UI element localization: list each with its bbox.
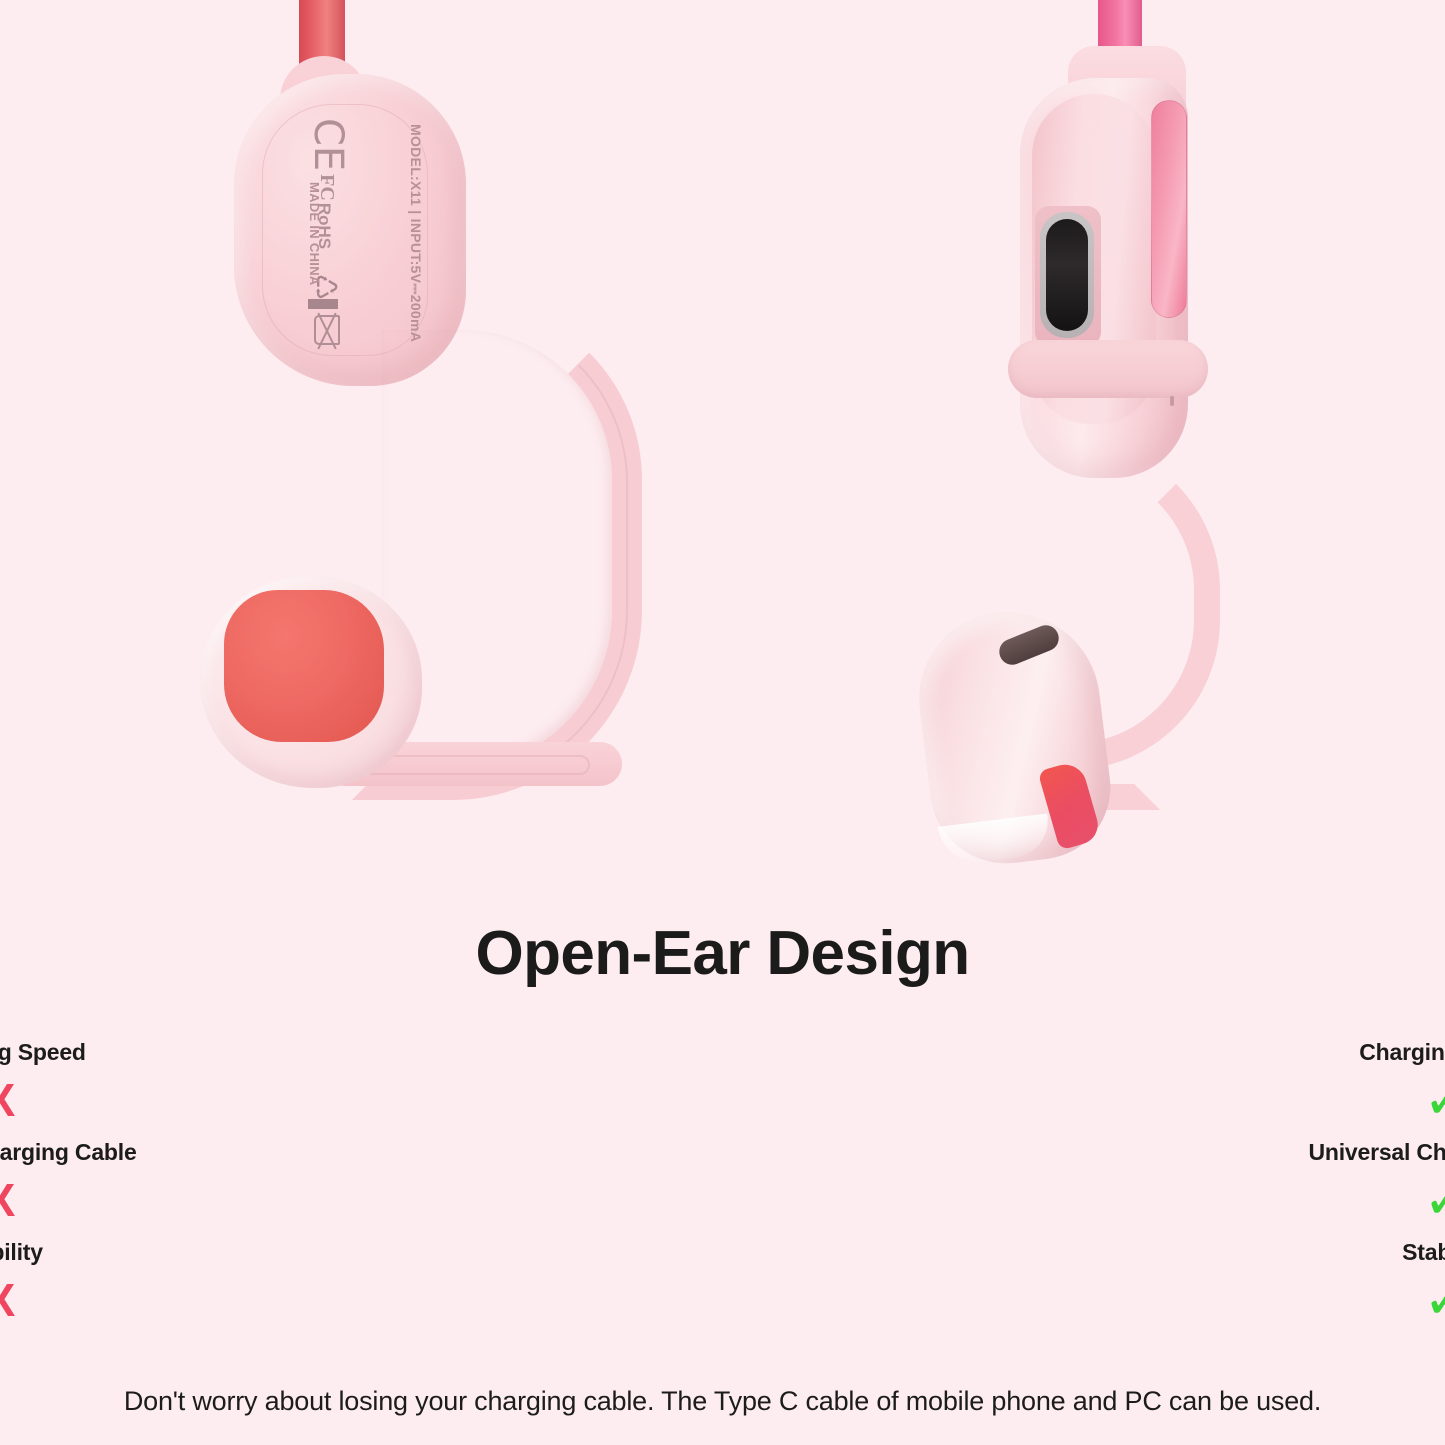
check-icon-stability: ✓	[1085, 1269, 1445, 1335]
left-driver-pad	[224, 590, 384, 742]
cross-icon-universal-cable: X	[0, 1169, 361, 1235]
left-earphone-unit: CE FC RoHS ♺ MODEL:X11 | INPUT:5V⎓200mA …	[0, 0, 680, 900]
made-in-text: MADE IN CHINA	[307, 182, 322, 286]
page-title: Open-Ear Design	[0, 918, 1445, 989]
product-photo-area: CE FC RoHS ♺ MODEL:X11 | INPUT:5V⎓200mA …	[0, 0, 1445, 900]
cross-icon-charging-speed: X	[0, 1069, 361, 1135]
certification-label: MODEL:X11 | INPUT:5V⎓200mA MADE IN CHINA	[300, 120, 450, 350]
feature-label-charging-speed: Charging Speed	[0, 1035, 361, 1069]
right-microphone-pinhole	[1170, 396, 1174, 406]
comparison-column-positive: Charging Speed ✓ Universal Charging Cabl…	[722, 1035, 1444, 1335]
model-input-text: MODEL:X11 | INPUT:5V⎓200mA	[407, 124, 424, 342]
comparison-section: Charging Speed X Universal Charging Cabl…	[0, 1035, 1445, 1335]
feature-label-stability-positive: Stability	[1085, 1235, 1445, 1269]
feature-label-universal-cable-positive: Universal Charging Cable	[1085, 1135, 1445, 1169]
comparison-column-negative: Charging Speed X Universal Charging Cabl…	[0, 1035, 722, 1335]
right-earphone-unit	[880, 0, 1300, 900]
cross-icon-stability: X	[0, 1269, 361, 1335]
check-icon-universal-cable: ✓	[1085, 1169, 1445, 1235]
feature-label-charging-speed-positive: Charging Speed	[1085, 1035, 1445, 1069]
feature-label-stability: Stability	[0, 1235, 361, 1269]
feature-label-universal-cable: Universal Charging Cable	[0, 1135, 361, 1169]
check-icon-charging-speed: ✓	[1085, 1069, 1445, 1135]
right-rubber-cap-flap	[1008, 340, 1208, 398]
footer-caption: Don't worry about losing your charging c…	[0, 1386, 1445, 1417]
left-ear-hook-bar-seam	[360, 755, 590, 775]
right-control-button[interactable]	[1151, 100, 1187, 318]
usb-c-port-icon	[1046, 219, 1088, 331]
